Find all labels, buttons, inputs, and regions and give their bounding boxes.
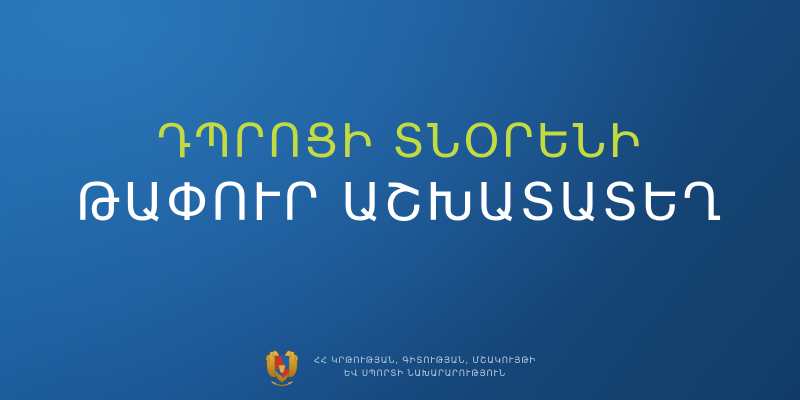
- ministry-name-line-2: ԵՎ ՍՊՈՐՏԻ ՆԱԽԱՐԱՐՈՒԹՅՈՒՆ: [314, 368, 536, 381]
- announcement-banner: ԴՊՐՈՑԻ ՏՆՕՐԵՆԻ ԹԱՓՈՒՐ ԱՇԽԱՏԱՏԵՂ: [0, 0, 800, 400]
- headline-block: ԴՊՐՈՑԻ ՏՆՕՐԵՆԻ ԹԱՓՈՒՐ ԱՇԽԱՏԱՏԵՂ: [0, 118, 800, 230]
- headline-line-2: ԹԱՓՈՒՐ ԱՇԽԱՏԱՏԵՂ: [24, 177, 776, 230]
- headline-line-1: ԴՊՐՈՑԻ ՏՆՕՐԵՆԻ: [24, 118, 776, 165]
- ministry-name: ՀՀ ԿՐԹՈՒԹՅԱՆ, ԳԻՏՈՒԹՅԱՆ, ՄՇԱԿՈՒՅԹԻ ԵՎ ՍՊ…: [314, 355, 536, 381]
- armenian-coat-of-arms-icon: [264, 348, 300, 388]
- ministry-name-line-1: ՀՀ ԿՐԹՈՒԹՅԱՆ, ԳԻՏՈՒԹՅԱՆ, ՄՇԱԿՈՒՅԹԻ: [314, 355, 536, 368]
- ministry-footer: ՀՀ ԿՐԹՈՒԹՅԱՆ, ԳԻՏՈՒԹՅԱՆ, ՄՇԱԿՈՒՅԹԻ ԵՎ ՍՊ…: [0, 348, 800, 388]
